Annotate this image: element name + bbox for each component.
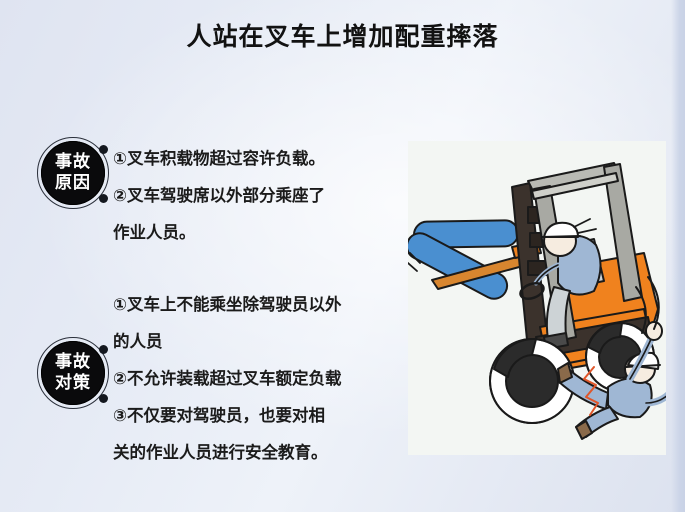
badge-label-line-2: 对策 <box>55 373 91 394</box>
forklift-accident-image <box>408 141 666 455</box>
badge-accident-cause: 事故 原因 <box>34 134 112 212</box>
badge-label-group: 事故 对策 <box>41 341 105 405</box>
text-line: ②叉车驾驶席以外部分乘座了 <box>113 177 405 214</box>
text-line: 作业人员。 <box>113 214 405 251</box>
text-line: 的人员 <box>113 323 405 360</box>
badge-label-line-1: 事故 <box>55 352 91 373</box>
text-line: 关的作业人员进行安全教育。 <box>113 434 405 471</box>
page-title: 人站在叉车上增加配重摔落 <box>0 20 685 54</box>
slide-canvas: 人站在叉车上增加配重摔落 事故 原因 事故 对策 ①叉车积载物超过容许负载。 ②… <box>0 0 685 512</box>
forklift-accident-illustration <box>408 141 666 455</box>
slide-right-edge-shading <box>671 0 685 512</box>
badge-accident-countermeasure: 事故 对策 <box>34 334 112 412</box>
badge-label-group: 事故 原因 <box>41 141 105 205</box>
text-line: ①叉车上不能乘坐除驾驶员以外 <box>113 286 405 323</box>
accident-cause-text: ①叉车积载物超过容许负载。 ②叉车驾驶席以外部分乘座了 作业人员。 <box>113 140 405 251</box>
accident-countermeasure-text: ①叉车上不能乘坐除驾驶员以外 的人员 ②不允许装载超过叉车额定负载 ③不仅要对驾… <box>113 286 405 471</box>
text-line: ①叉车积载物超过容许负载。 <box>113 140 405 177</box>
badge-label-line-1: 事故 <box>55 152 91 173</box>
text-line: ③不仅要对驾驶员，也要对相 <box>113 397 405 434</box>
text-line: ②不允许装载超过叉车额定负载 <box>113 360 405 397</box>
badge-label-line-2: 原因 <box>55 173 91 194</box>
